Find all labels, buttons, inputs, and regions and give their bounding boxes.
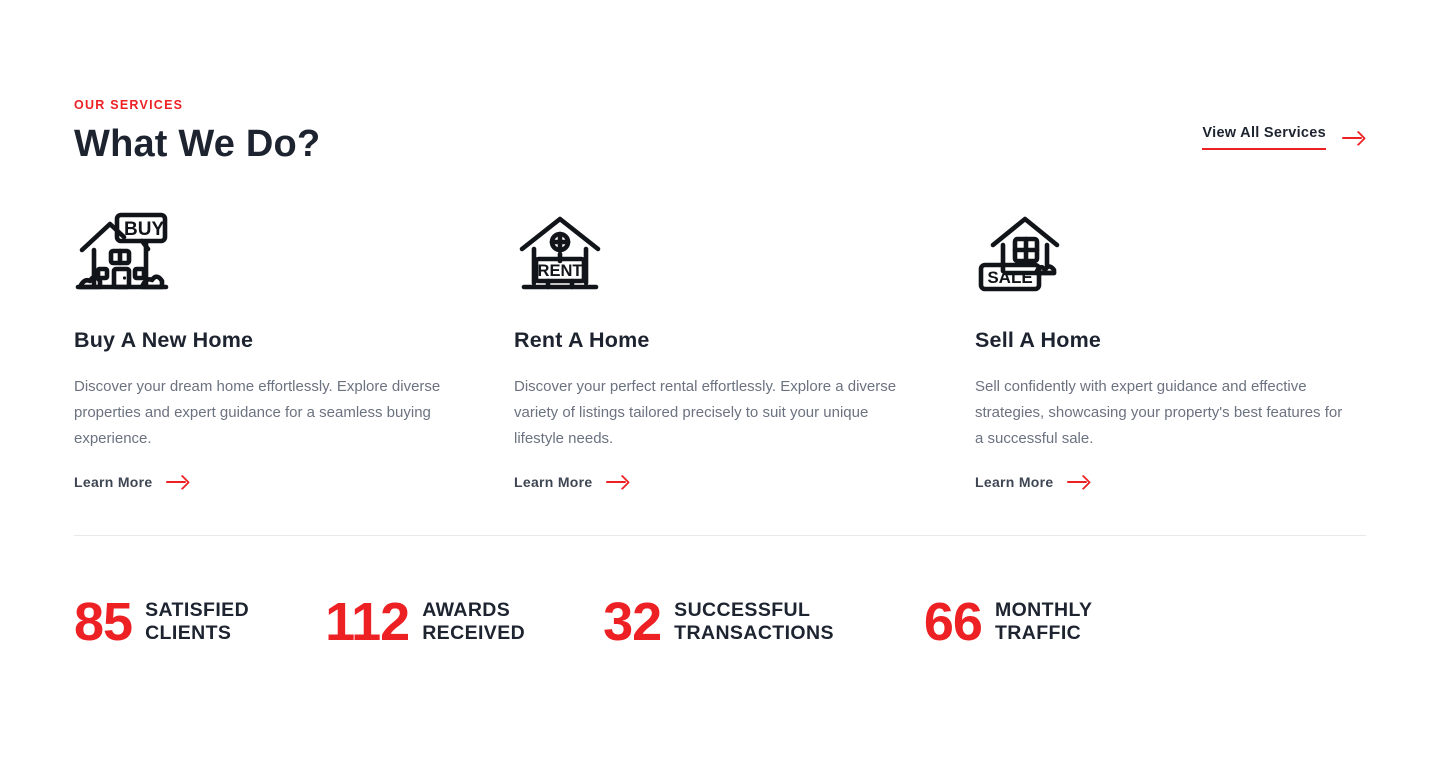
service-title: Rent A Home xyxy=(514,329,957,353)
house-buy-sign-icon: BUY xyxy=(74,209,496,293)
service-description: Sell confidently with expert guidance an… xyxy=(975,374,1348,452)
section-header: OUR SERVICES What We Do? View All Servic… xyxy=(74,0,1366,165)
view-all-services-label: View All Services xyxy=(1202,126,1326,150)
house-sale-sign-icon: SALE xyxy=(975,209,1348,293)
service-card-sell: SALE Sell A Home Sell confidently with e… xyxy=(975,209,1366,489)
stat-value: 112 xyxy=(325,595,409,649)
learn-more-link-sell[interactable]: Learn More xyxy=(975,475,1091,489)
stat-value: 66 xyxy=(924,595,982,649)
stat-satisfied-clients: 85 SATISFIED CLIENTS xyxy=(74,595,249,649)
page-title: What We Do? xyxy=(74,124,320,166)
stat-value: 32 xyxy=(603,595,661,649)
service-description: Discover your perfect rental effortlessl… xyxy=(514,374,909,452)
service-title: Buy A New Home xyxy=(74,329,496,353)
stat-value: 85 xyxy=(74,595,132,649)
arrow-right-icon xyxy=(166,475,190,489)
rent-sign-text: RENT xyxy=(538,262,583,280)
stat-monthly-traffic: 66 MONTHLY TRAFFIC xyxy=(924,595,1093,649)
service-title: Sell A Home xyxy=(975,329,1348,353)
stat-label: SUCCESSFUL TRANSACTIONS xyxy=(674,599,834,645)
service-description: Discover your dream home effortlessly. E… xyxy=(74,374,469,452)
service-card-buy: BUY Buy A New Home Discover your dream h… xyxy=(74,209,514,489)
stats-row: 85 SATISFIED CLIENTS 112 AWARDS RECEIVED… xyxy=(74,595,1092,649)
learn-more-link-buy[interactable]: Learn More xyxy=(74,475,190,489)
house-rent-sign-icon: RENT xyxy=(514,209,957,293)
stat-label: MONTHLY TRAFFIC xyxy=(995,599,1092,645)
arrow-right-icon xyxy=(1067,475,1091,489)
section-header-text: OUR SERVICES What We Do? xyxy=(74,99,320,165)
stat-successful-transactions: 32 SUCCESSFUL TRANSACTIONS xyxy=(603,595,834,649)
learn-more-label: Learn More xyxy=(74,475,152,489)
stat-label: SATISFIED CLIENTS xyxy=(145,599,249,645)
section-eyebrow: OUR SERVICES xyxy=(74,99,320,112)
service-card-rent: RENT Rent A Home Discover your perfect r… xyxy=(514,209,975,489)
sale-sign-text: SALE xyxy=(987,268,1032,287)
buy-sign-text: BUY xyxy=(124,219,164,240)
arrow-right-icon xyxy=(1342,131,1366,145)
learn-more-label: Learn More xyxy=(514,475,592,489)
stat-label: AWARDS RECEIVED xyxy=(422,599,525,645)
arrow-right-icon xyxy=(606,475,630,489)
stat-awards-received: 112 AWARDS RECEIVED xyxy=(325,595,525,649)
services-grid: BUY Buy A New Home Discover your dream h… xyxy=(74,209,1366,489)
learn-more-link-rent[interactable]: Learn More xyxy=(514,475,630,489)
section-divider xyxy=(74,535,1366,536)
services-section: OUR SERVICES What We Do? View All Servic… xyxy=(0,0,1440,767)
learn-more-label: Learn More xyxy=(975,475,1053,489)
view-all-services-link[interactable]: View All Services xyxy=(1202,126,1366,150)
